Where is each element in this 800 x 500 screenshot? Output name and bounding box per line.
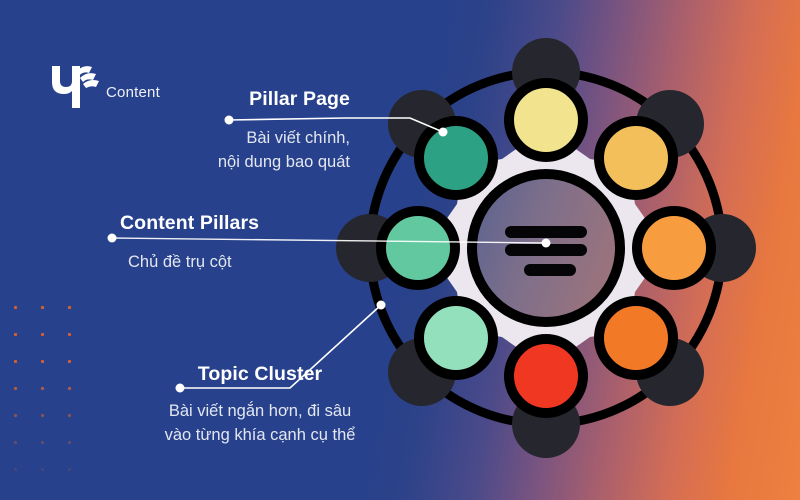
callout-desc-line: Bài viết chính, <box>170 127 350 151</box>
decorative-dot-grid <box>0 292 92 492</box>
callout-desc-pillar-page: Bài viết chính, nội dung bao quát <box>170 127 350 175</box>
infographic-canvas: Content <box>0 0 800 500</box>
callout-title-topic-cluster: Topic Cluster <box>120 363 400 385</box>
callout-desc-topic-cluster: Bài viết ngắn hơn, đi sâu vào từng khía … <box>120 400 400 448</box>
callout-topic-cluster: Topic Cluster Bài viết ngắn hơn, đi sâu … <box>120 363 400 448</box>
callout-title-content-pillars: Content Pillars <box>120 212 380 234</box>
callout-desc-line: Bài viết ngắn hơn, đi sâu <box>120 400 400 424</box>
callout-desc-line: nội dung bao quát <box>170 151 350 175</box>
callout-pillar-page: Pillar Page Bài viết chính, nội dung bao… <box>170 88 350 175</box>
brand-logo-wordmark: Content <box>106 84 160 101</box>
up-arrow-fork-logo-icon <box>45 58 103 115</box>
callout-content-pillars: Content Pillars Chủ đề trụ cột <box>120 212 380 275</box>
callout-desc-line: Chủ đề trụ cột <box>128 251 380 275</box>
callout-desc-line: vào từng khía cạnh cụ thể <box>120 424 400 448</box>
callout-title-pillar-page: Pillar Page <box>170 88 350 110</box>
callout-desc-content-pillars: Chủ đề trụ cột <box>120 251 380 275</box>
